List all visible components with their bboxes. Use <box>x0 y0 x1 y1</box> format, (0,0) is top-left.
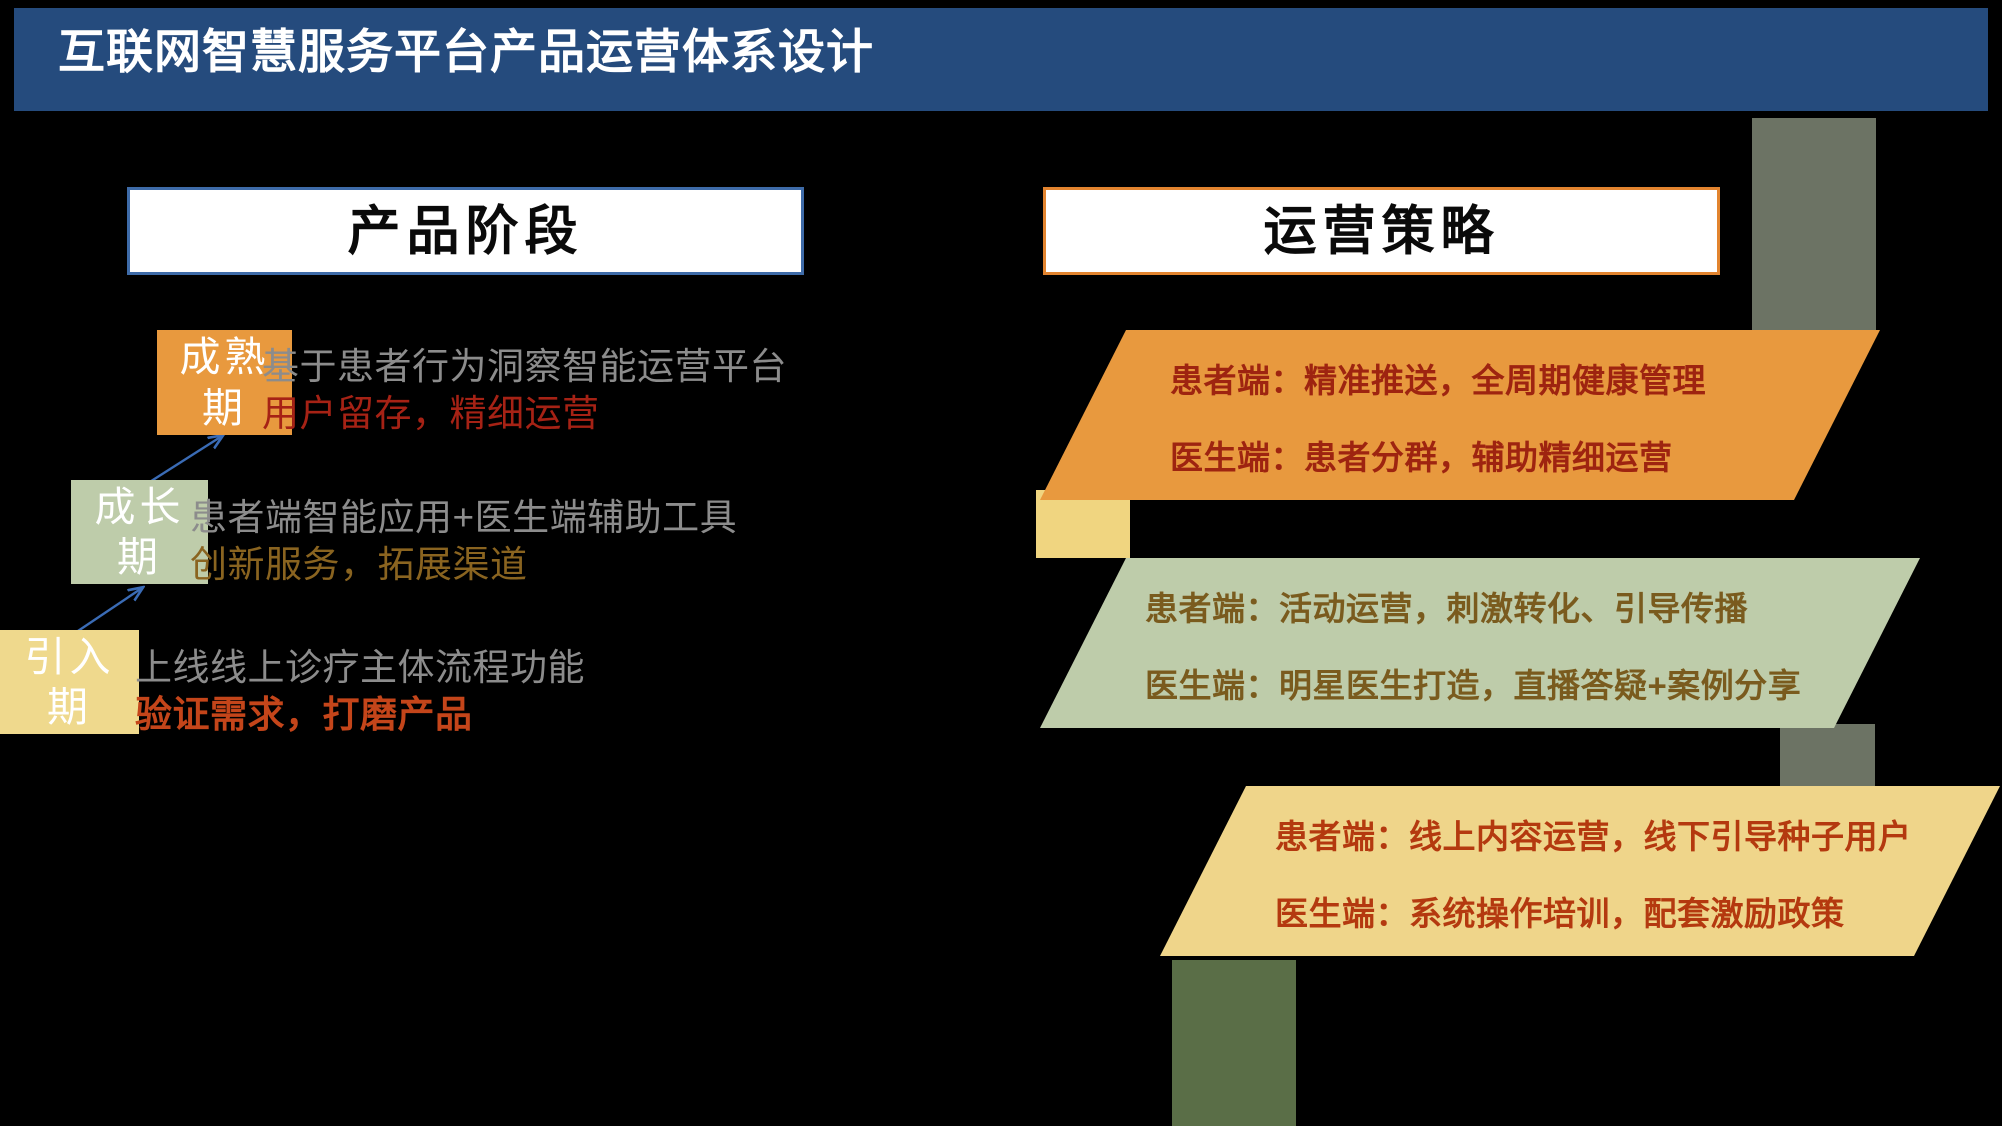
strategy-banner-mature[interactable]: 患者端：精准推送，全周期健康管理 医生端：患者分群，辅助精细运营 <box>1040 330 1880 500</box>
decor-block-gray-top <box>1752 118 1876 332</box>
strategy-banner-mature-line1: 患者端：精准推送，全周期健康管理 <box>1170 364 1706 397</box>
stage-description-intro-line1: 上线线上诊疗主体流程功能 <box>135 644 585 691</box>
strategy-banner-growth-line1: 患者端：活动运营，刺激转化、引导传播 <box>1145 592 1801 625</box>
stage-box-growth[interactable]: 成长期 <box>71 480 208 584</box>
strategy-banner-growth-text: 患者端：活动运营，刺激转化、引导传播 医生端：明星医生打造，直播答疑+案例分享 <box>1145 592 1801 702</box>
stage-box-intro-label: 引入期 <box>16 632 123 732</box>
column-header-operation-strategy-label: 运营策略 <box>1264 205 1500 258</box>
strategy-banner-intro-text: 患者端：线上内容运营，线下引导种子用户 医生端：系统操作培训，配套激励政策 <box>1275 820 1912 930</box>
decor-block-yellow-mid <box>1036 490 1130 558</box>
page-title: 互联网智慧服务平台产品运营体系设计 <box>58 28 874 75</box>
strategy-banner-growth[interactable]: 患者端：活动运营，刺激转化、引导传播 医生端：明星医生打造，直播答疑+案例分享 <box>1040 558 1920 728</box>
stage-description-mature-line1: 基于患者行为洞察智能运营平台 <box>262 343 787 390</box>
strategy-banner-growth-line2: 医生端：明星医生打造，直播答疑+案例分享 <box>1145 669 1801 702</box>
stage-description-growth: 患者端智能应用+医生端辅助工具 创新服务，拓展渠道 <box>190 494 737 589</box>
strategy-banner-intro-line1: 患者端：线上内容运营，线下引导种子用户 <box>1275 820 1912 853</box>
column-header-product-stage-label: 产品阶段 <box>348 205 584 258</box>
strategy-banner-mature-line2: 医生端：患者分群，辅助精细运营 <box>1170 441 1706 474</box>
column-header-product-stage: 产品阶段 <box>127 187 804 275</box>
strategy-banner-mature-text: 患者端：精准推送，全周期健康管理 医生端：患者分群，辅助精细运营 <box>1170 364 1706 474</box>
stage-description-intro: 上线线上诊疗主体流程功能 验证需求，打磨产品 <box>135 644 585 739</box>
decor-block-green-bottom <box>1172 960 1296 1126</box>
slide-canvas: 互联网智慧服务平台产品运营体系设计 产品阶段 运营策略 成熟期 基于患者行为洞察… <box>0 0 2002 1126</box>
column-header-operation-strategy: 运营策略 <box>1043 187 1720 275</box>
stage-description-mature: 基于患者行为洞察智能运营平台 用户留存，精细运营 <box>262 343 787 438</box>
stage-description-intro-line2: 验证需求，打磨产品 <box>135 691 585 738</box>
stage-description-growth-line2: 创新服务，拓展渠道 <box>190 541 737 588</box>
stage-box-growth-label: 成长期 <box>86 482 193 582</box>
strategy-banner-intro[interactable]: 患者端：线上内容运营，线下引导种子用户 医生端：系统操作培训，配套激励政策 <box>1160 786 2000 956</box>
stage-description-growth-line1: 患者端智能应用+医生端辅助工具 <box>190 494 737 541</box>
stage-box-intro[interactable]: 引入期 <box>0 630 139 734</box>
stage-description-mature-line2: 用户留存，精细运营 <box>262 390 787 437</box>
strategy-banner-intro-line2: 医生端：系统操作培训，配套激励政策 <box>1275 897 1912 930</box>
